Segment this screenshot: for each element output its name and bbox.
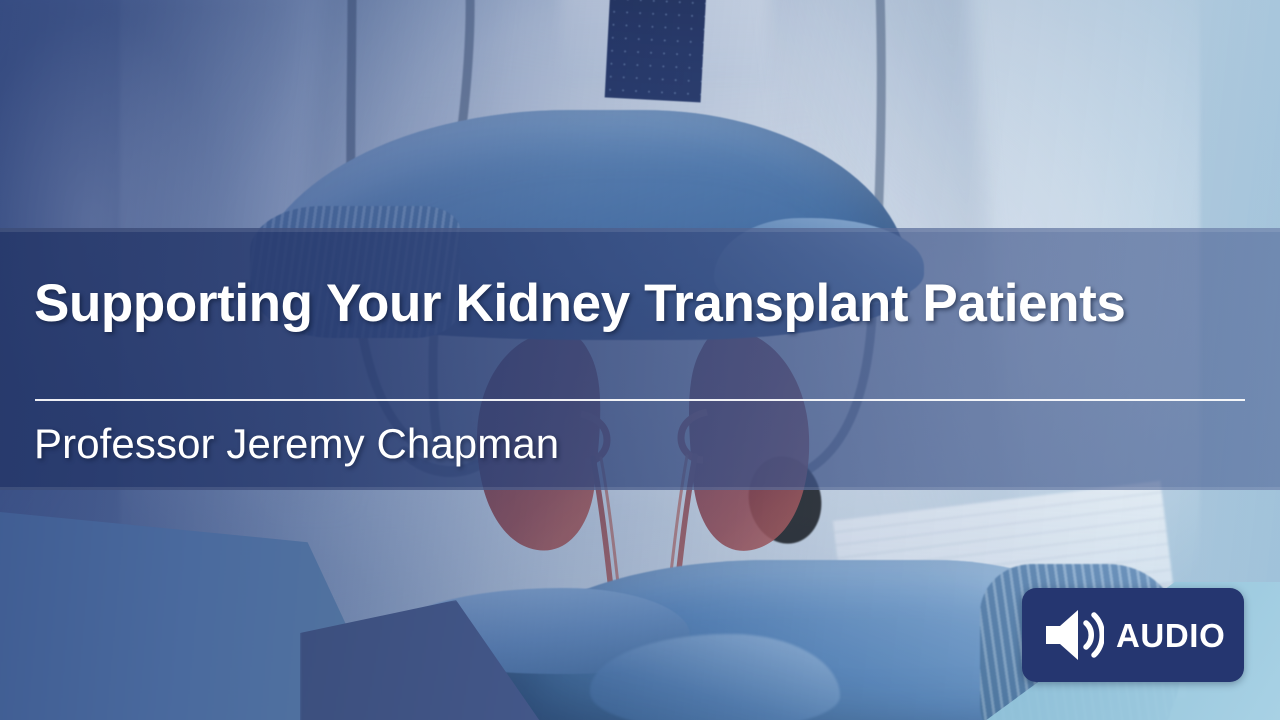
page-title: Supporting Your Kidney Transplant Patien… [34,276,1244,332]
speaker-icon [1042,608,1104,662]
banner-top-edge [0,228,1280,232]
title-divider [35,399,1245,401]
presenter-name: Professor Jeremy Chapman [34,419,559,469]
audio-badge[interactable]: AUDIO [1022,588,1244,682]
audio-badge-label: AUDIO [1116,619,1225,652]
slide: Supporting Your Kidney Transplant Patien… [0,0,1280,720]
banner-bottom-edge [0,487,1280,490]
